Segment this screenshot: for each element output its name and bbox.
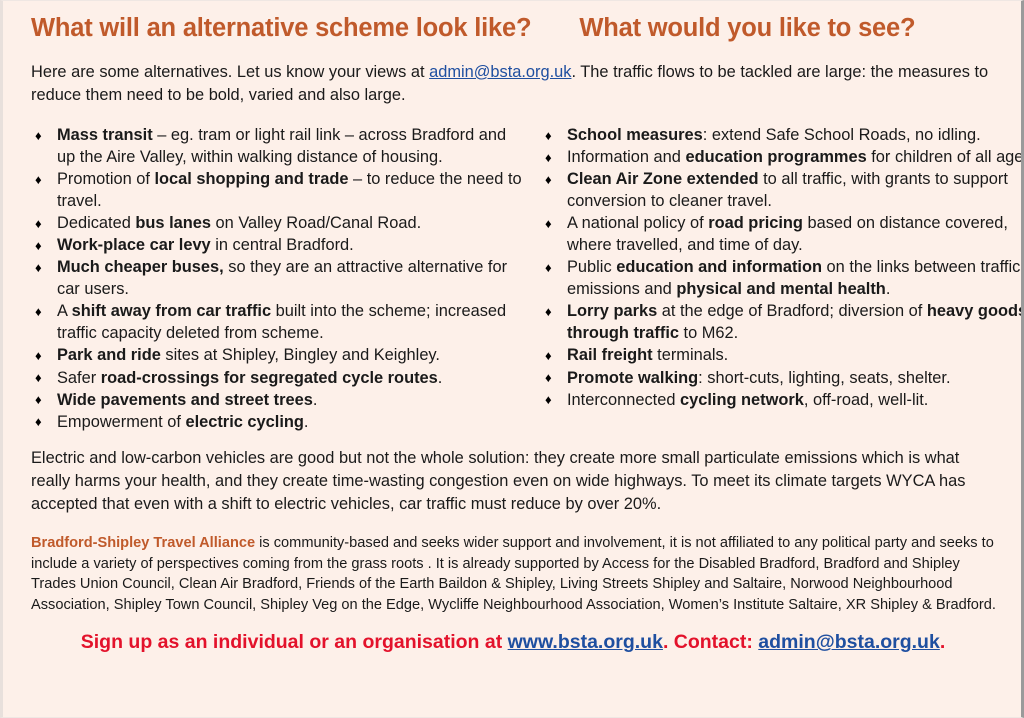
- list-item-text: .: [313, 391, 318, 409]
- list-item: ♦A national policy of road pricing based…: [537, 212, 1024, 256]
- cta-email-link[interactable]: admin@bsta.org.uk: [758, 631, 940, 653]
- list-item: ♦Safer road-crossings for segregated cyc…: [27, 367, 527, 389]
- cta-website-link[interactable]: www.bsta.org.uk: [508, 631, 663, 653]
- list-item-emphasis: Much cheaper buses,: [57, 258, 224, 276]
- list-item-text: for children of all ages.: [867, 148, 1024, 166]
- list-item-text: , off-road, well-lit.: [804, 391, 929, 409]
- list-item-emphasis: education programmes: [685, 148, 866, 166]
- list-item-emphasis: Promote walking: [567, 369, 698, 387]
- list-item-emphasis: shift away from car traffic: [72, 302, 271, 320]
- list-item-emphasis: road-crossings for segregated cycle rout…: [101, 369, 438, 387]
- diamond-bullet-icon: ♦: [545, 389, 552, 411]
- list-item: ♦Park and ride sites at Shipley, Bingley…: [27, 344, 527, 366]
- headings-row: What will an alternative scheme look lik…: [27, 13, 999, 45]
- electric-vehicles-paragraph: Electric and low-carbon vehicles are goo…: [27, 447, 999, 517]
- list-item-emphasis: Rail freight: [567, 346, 653, 364]
- list-item-text: at the edge of Bradford; diversion of: [657, 302, 927, 320]
- list-item: ♦Clean Air Zone extended to all traffic,…: [537, 168, 1024, 212]
- list-item-emphasis: Wide pavements and street trees: [57, 391, 313, 409]
- diamond-bullet-icon: ♦: [35, 125, 42, 147]
- list-item-text: : extend Safe School Roads, no idling.: [703, 126, 981, 144]
- list-item-text: .: [304, 413, 309, 431]
- diamond-bullet-icon: ♦: [545, 301, 552, 323]
- list-item: ♦Rail freight terminals.: [537, 344, 1024, 366]
- diamond-bullet-icon: ♦: [35, 367, 42, 389]
- list-item: ♦Promotion of local shopping and trade –…: [27, 168, 527, 212]
- cta-text-part3: .: [940, 631, 945, 653]
- diamond-bullet-icon: ♦: [35, 169, 42, 191]
- list-item-text: in central Bradford.: [211, 236, 354, 254]
- intro-paragraph: Here are some alternatives. Let us know …: [27, 61, 991, 108]
- list-item: ♦Lorry parks at the edge of Bradford; di…: [537, 300, 1024, 344]
- diamond-bullet-icon: ♦: [545, 345, 552, 367]
- diamond-bullet-icon: ♦: [35, 345, 42, 367]
- list-item-text: : short-cuts, lighting, seats, shelter.: [698, 369, 950, 387]
- list-item-emphasis: physical and mental health: [676, 280, 886, 298]
- list-item-text: on Valley Road/Canal Road.: [211, 214, 421, 232]
- list-item: ♦Information and education programmes fo…: [537, 146, 1024, 168]
- bullet-column-right: ♦School measures: extend Safe School Roa…: [537, 124, 1024, 433]
- bullet-columns: ♦Mass transit – eg. tram or light rail l…: [27, 124, 999, 433]
- list-item-emphasis: School measures: [567, 126, 703, 144]
- list-item: ♦Work-place car levy in central Bradford…: [27, 234, 527, 256]
- alliance-paragraph: Bradford-Shipley Travel Alliance is comm…: [27, 533, 999, 616]
- intro-email-link[interactable]: admin@bsta.org.uk: [429, 63, 571, 81]
- diamond-bullet-icon: ♦: [545, 169, 552, 191]
- list-item: ♦Promote walking: short-cuts, lighting, …: [537, 367, 1024, 389]
- cta-text-part2: . Contact:: [663, 631, 758, 653]
- list-item-text: Information and: [567, 148, 685, 166]
- list-item-text: terminals.: [653, 346, 729, 364]
- list-item-emphasis: bus lanes: [135, 214, 211, 232]
- list-item-text: sites at Shipley, Bingley and Keighley.: [161, 346, 440, 364]
- list-item: ♦A shift away from car traffic built int…: [27, 300, 527, 344]
- list-item: ♦Empowerment of electric cycling.: [27, 411, 527, 433]
- list-item: ♦Much cheaper buses, so they are an attr…: [27, 256, 527, 300]
- alternatives-list: ♦Mass transit – eg. tram or light rail l…: [27, 124, 527, 433]
- list-item-text: Interconnected: [567, 391, 680, 409]
- list-item-text: to M62.: [679, 324, 738, 342]
- list-item: ♦Mass transit – eg. tram or light rail l…: [27, 124, 527, 168]
- diamond-bullet-icon: ♦: [35, 257, 42, 279]
- list-item-emphasis: education and information: [616, 258, 822, 276]
- list-item-text: .: [886, 280, 891, 298]
- diamond-bullet-icon: ♦: [35, 411, 42, 433]
- list-item: ♦School measures: extend Safe School Roa…: [537, 124, 1024, 146]
- list-item-emphasis: cycling network: [680, 391, 804, 409]
- cta-text-part1: Sign up as an individual or an organisat…: [81, 631, 508, 653]
- list-item: ♦Wide pavements and street trees.: [27, 389, 527, 411]
- list-item-text: Safer: [57, 369, 101, 387]
- diamond-bullet-icon: ♦: [35, 301, 42, 323]
- alliance-name: Bradford-Shipley Travel Alliance: [31, 535, 255, 551]
- leaflet-page: What will an alternative scheme look lik…: [0, 0, 1024, 718]
- list-item-emphasis: local shopping and trade: [154, 170, 348, 188]
- list-item-text: Public: [567, 258, 616, 276]
- wishlist-list: ♦School measures: extend Safe School Roa…: [537, 124, 1024, 411]
- list-item-emphasis: Mass transit: [57, 126, 153, 144]
- diamond-bullet-icon: ♦: [545, 213, 552, 235]
- page-title-left: What will an alternative scheme look lik…: [31, 13, 531, 45]
- diamond-bullet-icon: ♦: [35, 389, 42, 411]
- list-item-text: Dedicated: [57, 214, 135, 232]
- list-item-text: Empowerment of: [57, 413, 185, 431]
- diamond-bullet-icon: ♦: [545, 367, 552, 389]
- list-item: ♦Public education and information on the…: [537, 256, 1024, 300]
- bullet-column-left: ♦Mass transit – eg. tram or light rail l…: [27, 124, 527, 433]
- list-item-text: A: [57, 302, 72, 320]
- list-item-emphasis: Lorry parks: [567, 302, 657, 320]
- list-item-emphasis: Work-place car levy: [57, 236, 211, 254]
- intro-text-part1: Here are some alternatives. Let us know …: [31, 63, 429, 81]
- list-item-emphasis: road pricing: [708, 214, 803, 232]
- list-item-emphasis: electric cycling: [185, 413, 303, 431]
- list-item: ♦Interconnected cycling network, off-roa…: [537, 389, 1024, 411]
- diamond-bullet-icon: ♦: [545, 125, 552, 147]
- diamond-bullet-icon: ♦: [35, 235, 42, 257]
- diamond-bullet-icon: ♦: [545, 257, 552, 279]
- signup-call-to-action: Sign up as an individual or an organisat…: [27, 630, 999, 655]
- page-title-right: What would you like to see?: [579, 13, 915, 45]
- list-item-emphasis: Park and ride: [57, 346, 161, 364]
- list-item-emphasis: Clean Air Zone extended: [567, 170, 759, 188]
- list-item: ♦Dedicated bus lanes on Valley Road/Cana…: [27, 212, 527, 234]
- list-item-text: Promotion of: [57, 170, 154, 188]
- list-item-text: A national policy of: [567, 214, 708, 232]
- diamond-bullet-icon: ♦: [35, 213, 42, 235]
- diamond-bullet-icon: ♦: [545, 147, 552, 169]
- list-item-text: .: [438, 369, 443, 387]
